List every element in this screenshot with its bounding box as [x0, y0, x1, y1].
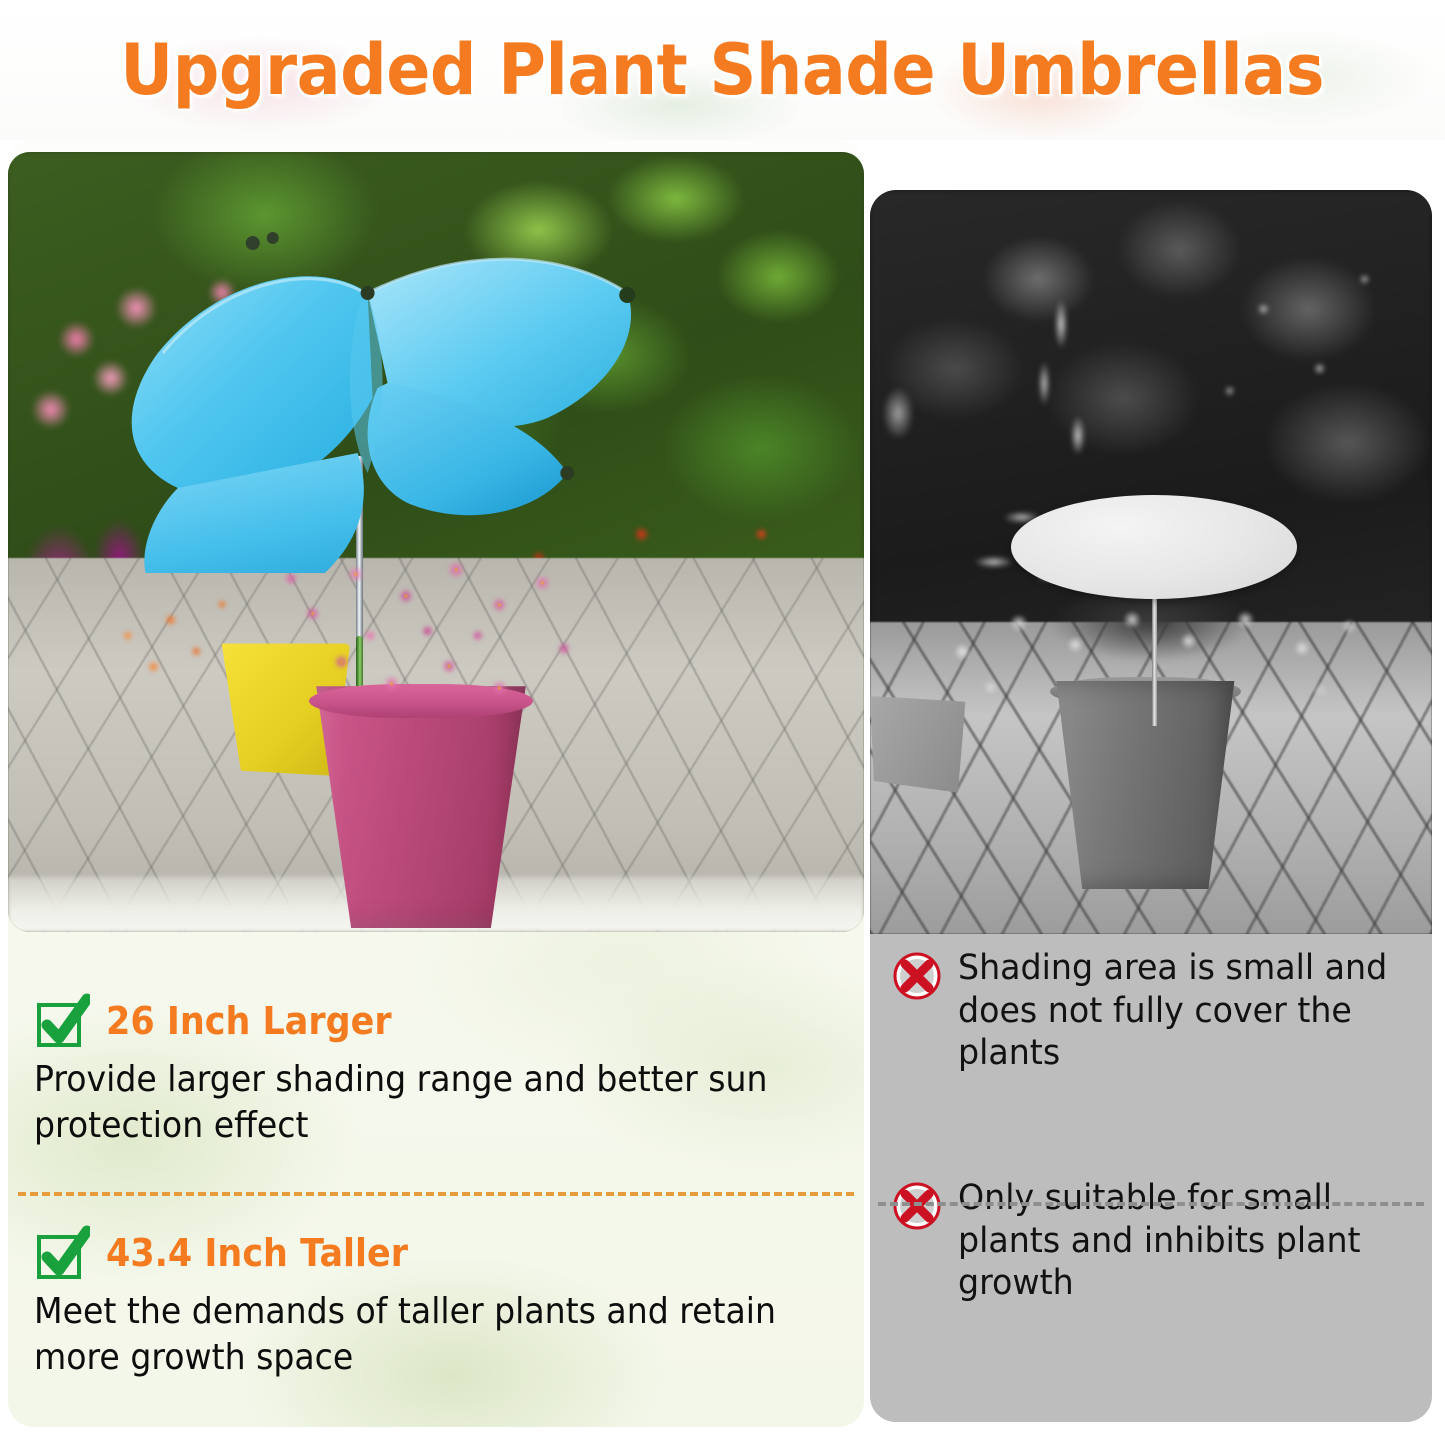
feature-2-body: Meet the demands of taller plants and re…	[34, 1289, 798, 1381]
feature-2-heading-row: 43.4 Inch Taller	[34, 1225, 864, 1281]
small-shade-pole	[1152, 592, 1157, 726]
left-section-divider	[18, 1192, 854, 1196]
feature-item-2: 43.4 Inch Taller Meet the demands of tal…	[34, 1225, 864, 1381]
x-circle-icon	[892, 951, 942, 1001]
blue-shade-umbrella	[68, 183, 667, 573]
feature-1-title: 26 Inch Larger	[106, 999, 392, 1043]
con-item-1: Shading area is small and does not fully…	[892, 947, 1412, 1075]
feature-1-heading-row: 26 Inch Larger	[34, 993, 864, 1049]
feature-1-body: Provide larger shading range and better …	[34, 1057, 798, 1149]
page-title: Upgraded Plant Shade Umbrellas	[121, 35, 1325, 105]
ordinary-product-photo	[870, 190, 1432, 934]
con-2-text: Only suitable for small plants and inhib…	[958, 1177, 1389, 1305]
title-banner: Upgraded Plant Shade Umbrellas	[0, 0, 1445, 140]
feature-item-1: 26 Inch Larger Provide larger shading ra…	[34, 993, 864, 1149]
con-1-text: Shading area is small and does not fully…	[958, 947, 1389, 1075]
right-section-divider	[878, 1202, 1424, 1206]
small-shade-disc	[1011, 495, 1298, 599]
check-box-icon	[34, 993, 90, 1049]
x-circle-icon	[892, 1181, 942, 1231]
infographic-page: Upgraded Plant Shade Umbrellas	[0, 0, 1445, 1435]
con-item-2: Only suitable for small plants and inhib…	[892, 1177, 1412, 1305]
check-box-icon	[34, 1225, 90, 1281]
left-comparison-panel: 26 Inch Larger Provide larger shading ra…	[8, 140, 864, 1427]
feature-2-title: 43.4 Inch Taller	[106, 1231, 408, 1275]
grayscale-flower-pot	[1053, 681, 1238, 889]
upgraded-product-photo	[8, 152, 864, 932]
right-comparison-panel: Shading area is small and does not fully…	[870, 190, 1432, 1422]
right-text-area: Shading area is small and does not fully…	[870, 934, 1432, 1422]
